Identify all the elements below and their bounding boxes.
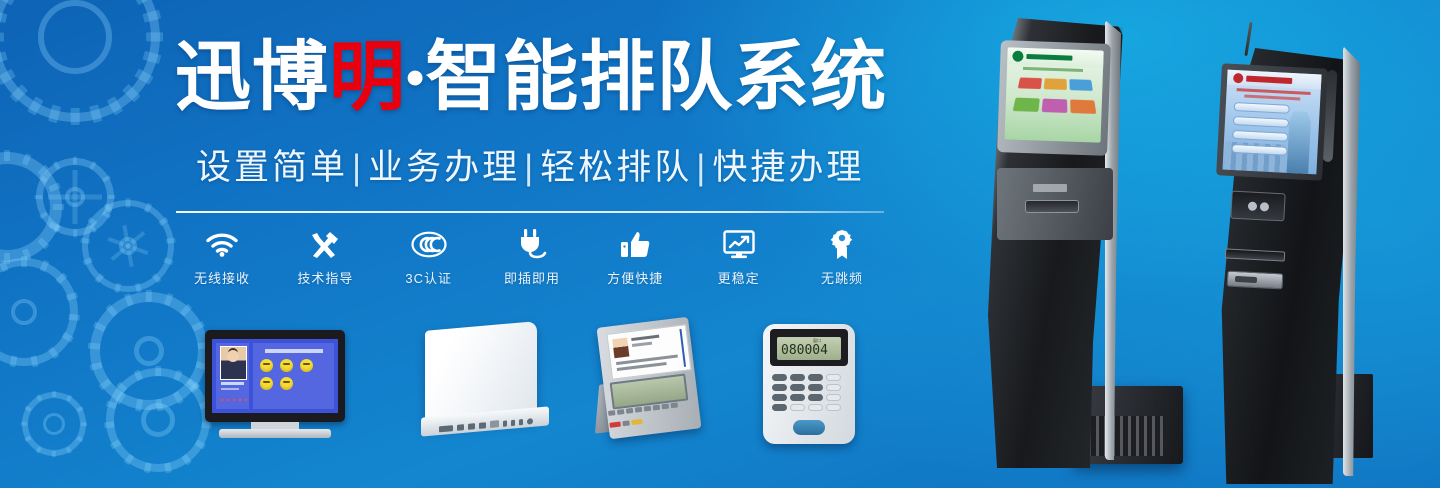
gear-tooth [37, 237, 49, 249]
gear-tooth [142, 51, 161, 64]
monitor-chart-icon [693, 224, 785, 264]
kiosk-a-brand-plate [1033, 184, 1067, 192]
keypad-lcd: 窗口 080004 [777, 337, 841, 360]
gear-tooth [76, 406, 83, 412]
gear-tooth [22, 248, 32, 260]
gear-tooth [0, 32, 4, 41]
gear-tooth [83, 257, 93, 265]
gear-tooth [173, 370, 182, 382]
rating-face[interactable] [260, 359, 273, 372]
gear-tooth [9, 84, 28, 103]
gear-tooth [48, 104, 61, 123]
gear-tooth [93, 321, 106, 332]
staff-photo [612, 338, 629, 359]
gear-tooth [108, 195, 116, 199]
gear-tooth [0, 10, 8, 23]
plug-icon [486, 224, 578, 264]
gear-tooth [36, 394, 42, 401]
gear-tooth [102, 175, 111, 183]
staff-id-card [606, 324, 691, 379]
gear-tooth [164, 293, 174, 306]
gear-tooth [21, 422, 27, 426]
gear-icon [0, 0, 160, 122]
headline-separator-dot: • [406, 36, 425, 120]
rating-face[interactable] [280, 377, 293, 390]
bank-b-menu-button[interactable] [1231, 144, 1287, 156]
gear-tooth [52, 391, 56, 397]
gear-tooth [30, 356, 38, 368]
gear-tooth [104, 203, 113, 213]
gear-tooth [48, 222, 60, 232]
card-id-line [632, 342, 652, 347]
gear-tooth [124, 453, 135, 465]
gear-tooth [89, 161, 97, 170]
gear-tooth [27, 96, 44, 115]
gear-tooth [180, 304, 193, 317]
monitor-screen [212, 339, 338, 413]
feature-label: 无线接收 [176, 268, 268, 287]
feature-item-wireless: 无线接收 [176, 224, 268, 287]
keypad-display-bezel: 窗口 080004 [770, 329, 848, 366]
subtitle-separator: | [348, 148, 368, 187]
gear-tooth [133, 370, 142, 382]
product-showcase: 窗口 080004 [190, 316, 890, 456]
gear-tooth [48, 347, 59, 359]
bank-b-menu-button[interactable] [1234, 102, 1290, 114]
ccc-certification-icon [383, 224, 475, 264]
gear-tooth [146, 290, 152, 302]
subtitle-item-3: 快捷办理 [712, 148, 864, 187]
bank-a-service-tiles[interactable] [1011, 77, 1097, 120]
monitor-base [219, 429, 331, 438]
monitor-frame [205, 330, 345, 422]
kiosk-b-antenna [1244, 22, 1252, 56]
gear-tooth [116, 382, 128, 393]
section-divider [176, 211, 884, 213]
card-name-line [631, 335, 659, 341]
kiosk-b-screen-bezel [1216, 63, 1328, 180]
rating-face-group [260, 359, 328, 390]
gear-icon [22, 392, 86, 456]
gear-tooth [36, 446, 42, 453]
gear-tooth [142, 10, 161, 23]
headline-part1: 迅博 [175, 35, 329, 120]
rating-question-line [265, 349, 323, 353]
product-desktop-evaluator [595, 322, 715, 448]
gear-tooth [163, 257, 173, 265]
gear-tooth [144, 203, 153, 213]
feature-label: 即插即用 [486, 268, 578, 287]
gear-tooth [102, 211, 111, 219]
kiosk-a-ticket-slot[interactable] [1025, 200, 1079, 213]
gear-tooth [9, 356, 17, 368]
gear-tooth [95, 273, 105, 283]
bank-b-header [1227, 70, 1322, 90]
subtitle-separator: | [692, 148, 712, 187]
tools-icon [279, 224, 371, 264]
kiosk-a-screen[interactable] [1005, 47, 1104, 142]
gear-icon [0, 258, 78, 366]
gear-tooth [124, 293, 134, 306]
product-host-controller-box [425, 326, 550, 444]
headline-part2: 智能排队系统 [425, 35, 887, 120]
gear-tooth [166, 238, 176, 244]
gear-tooth [69, 314, 80, 321]
gear-tooth [122, 84, 141, 103]
bank-a-subtitle [1023, 67, 1083, 72]
gear-tooth [89, 361, 102, 370]
keypad-enter-button[interactable] [793, 420, 825, 435]
staff-id-line [221, 388, 239, 390]
feature-item-3c-certification: 3C认证 [383, 224, 475, 287]
gear-tooth [0, 0, 16, 6]
product-caller-keypad: 窗口 080004 [763, 324, 863, 450]
thumbs-up-icon [589, 224, 681, 264]
feature-item-more-stable: 更稳定 [693, 224, 785, 287]
wifi-icon [176, 224, 268, 264]
gear-tooth [172, 391, 184, 404]
gear-tooth [39, 175, 48, 183]
keypad-body: 窗口 080004 [763, 324, 855, 444]
rating-stars [220, 398, 248, 402]
rating-face[interactable] [280, 359, 293, 372]
gear-tooth [105, 304, 118, 317]
feature-item-tech-support: 技术指导 [279, 224, 371, 287]
subtitle-item-2: 轻松排队 [540, 148, 692, 187]
product-monitor-evaluator [205, 330, 345, 440]
gear-tooth [53, 161, 61, 170]
feature-item-convenient: 方便快捷 [589, 224, 681, 287]
gear-tooth [152, 273, 162, 283]
bank-a-name [1026, 54, 1072, 61]
gear-tooth [40, 260, 50, 272]
gear-tooth [4, 253, 10, 264]
bank-b-name [1246, 75, 1292, 83]
gear-tooth [56, 272, 68, 284]
feature-list: 无线接收 技术指导 [176, 224, 888, 290]
kiosk-b-card-reader[interactable] [1230, 191, 1285, 222]
gear-tooth [21, 256, 27, 267]
gear-tooth [52, 451, 56, 457]
gear-tooth [70, 108, 79, 125]
feature-item-no-frequency-hop: 无跳频 [796, 224, 888, 287]
bank-b-menu-buttons[interactable] [1231, 102, 1290, 161]
gear-tooth [155, 366, 161, 376]
gear-tooth [110, 439, 122, 449]
gear-tooth [155, 399, 164, 412]
keypad-button-grid[interactable] [772, 374, 848, 411]
subtitle-item-0: 设置简单 [196, 148, 348, 187]
kiosk-b-handle[interactable] [1227, 271, 1284, 290]
gear-tooth [48, 182, 60, 192]
gear-tooth [0, 68, 16, 85]
gear-tooth [81, 422, 87, 426]
gear-tooth [135, 399, 144, 412]
gear-tooth [73, 157, 77, 165]
bank-a-logo [1012, 51, 1023, 62]
headline-highlight: 明 [329, 35, 406, 120]
wheel-icon [82, 200, 174, 292]
gear-tooth [114, 283, 121, 293]
gear-tooth [89, 104, 102, 123]
gear-tooth [88, 342, 100, 350]
gear-tooth [39, 211, 48, 219]
bank-b-menu-button[interactable] [1233, 116, 1289, 128]
gear-tooth [53, 224, 61, 233]
gear-tooth [0, 260, 8, 272]
gear-tooth [4, 150, 10, 161]
gear-tooth [134, 68, 153, 85]
gear-tooth [106, 96, 123, 115]
staff-photo [220, 346, 247, 380]
award-ribbon-icon [796, 224, 888, 264]
gear-icon [36, 158, 114, 236]
gear-tooth [24, 436, 31, 442]
rating-face[interactable] [300, 359, 313, 372]
gear-tooth [164, 462, 172, 473]
gear-tooth [66, 292, 78, 301]
feature-label: 方便快捷 [589, 268, 681, 287]
gear-tooth [66, 394, 72, 401]
gear-tooth [22, 153, 32, 165]
bank-a-header [1007, 47, 1104, 68]
gear-tooth [104, 422, 115, 429]
gear-tooth [144, 462, 152, 473]
banner-headline: 迅博明•智能排队系统 [175, 36, 890, 120]
feature-label: 无跳频 [796, 268, 888, 287]
banner-subtitle: 设置简单|业务办理|轻松排队|快捷办理 [196, 146, 896, 190]
kiosk-a-screen-bezel [997, 40, 1111, 156]
subtitle-separator: | [520, 148, 540, 187]
bank-b-logo [1233, 72, 1244, 83]
gear-tooth [114, 391, 126, 404]
feature-item-plug-and-play: 即插即用 [486, 224, 578, 287]
kiosk-b-screen[interactable] [1222, 70, 1321, 175]
bank-b-subtitle-line [1244, 95, 1300, 101]
gear-tooth [37, 165, 49, 177]
feature-label: 更稳定 [693, 268, 785, 287]
gear-tooth [66, 446, 72, 453]
gear-tooth [106, 401, 118, 410]
gear-tooth [125, 198, 130, 207]
staff-name-line [221, 382, 244, 385]
gear-tooth [24, 406, 31, 412]
feature-label: 3C认证 [383, 268, 475, 287]
gear-tooth [135, 283, 142, 293]
staff-info-panel [216, 343, 249, 409]
gear-tooth [76, 436, 83, 442]
gear-tooth [89, 224, 97, 233]
gear-tooth [62, 332, 74, 343]
feature-label: 技术指导 [279, 268, 371, 287]
gear-icon [0, 152, 62, 262]
gear-tooth [0, 51, 8, 64]
bank-b-menu-button[interactable] [1232, 130, 1288, 142]
gear-tooth [134, 0, 153, 6]
gear-tooth [35, 195, 43, 199]
monitor-stand [251, 422, 299, 429]
gear-tooth [73, 230, 77, 238]
keypad-lcd-value: 080004 [781, 344, 828, 357]
gear-tooth [87, 217, 97, 226]
gear-tooth [80, 238, 90, 244]
queue-kiosk-b [1195, 22, 1390, 488]
gear-tooth [98, 378, 111, 390]
gear-tooth [146, 32, 163, 41]
rating-face[interactable] [260, 377, 273, 390]
gear-tooth [158, 217, 168, 226]
gear-tooth [53, 204, 64, 210]
kiosk-a-vent-grille [1088, 416, 1164, 456]
queue-kiosk-a [955, 18, 1170, 488]
promo-banner: 迅博明•智能排队系统 设置简单|业务办理|轻松排队|快捷办理 无线接收 [0, 0, 1440, 488]
rating-panel [253, 343, 334, 409]
subtitle-item-1: 业务办理 [368, 148, 520, 187]
